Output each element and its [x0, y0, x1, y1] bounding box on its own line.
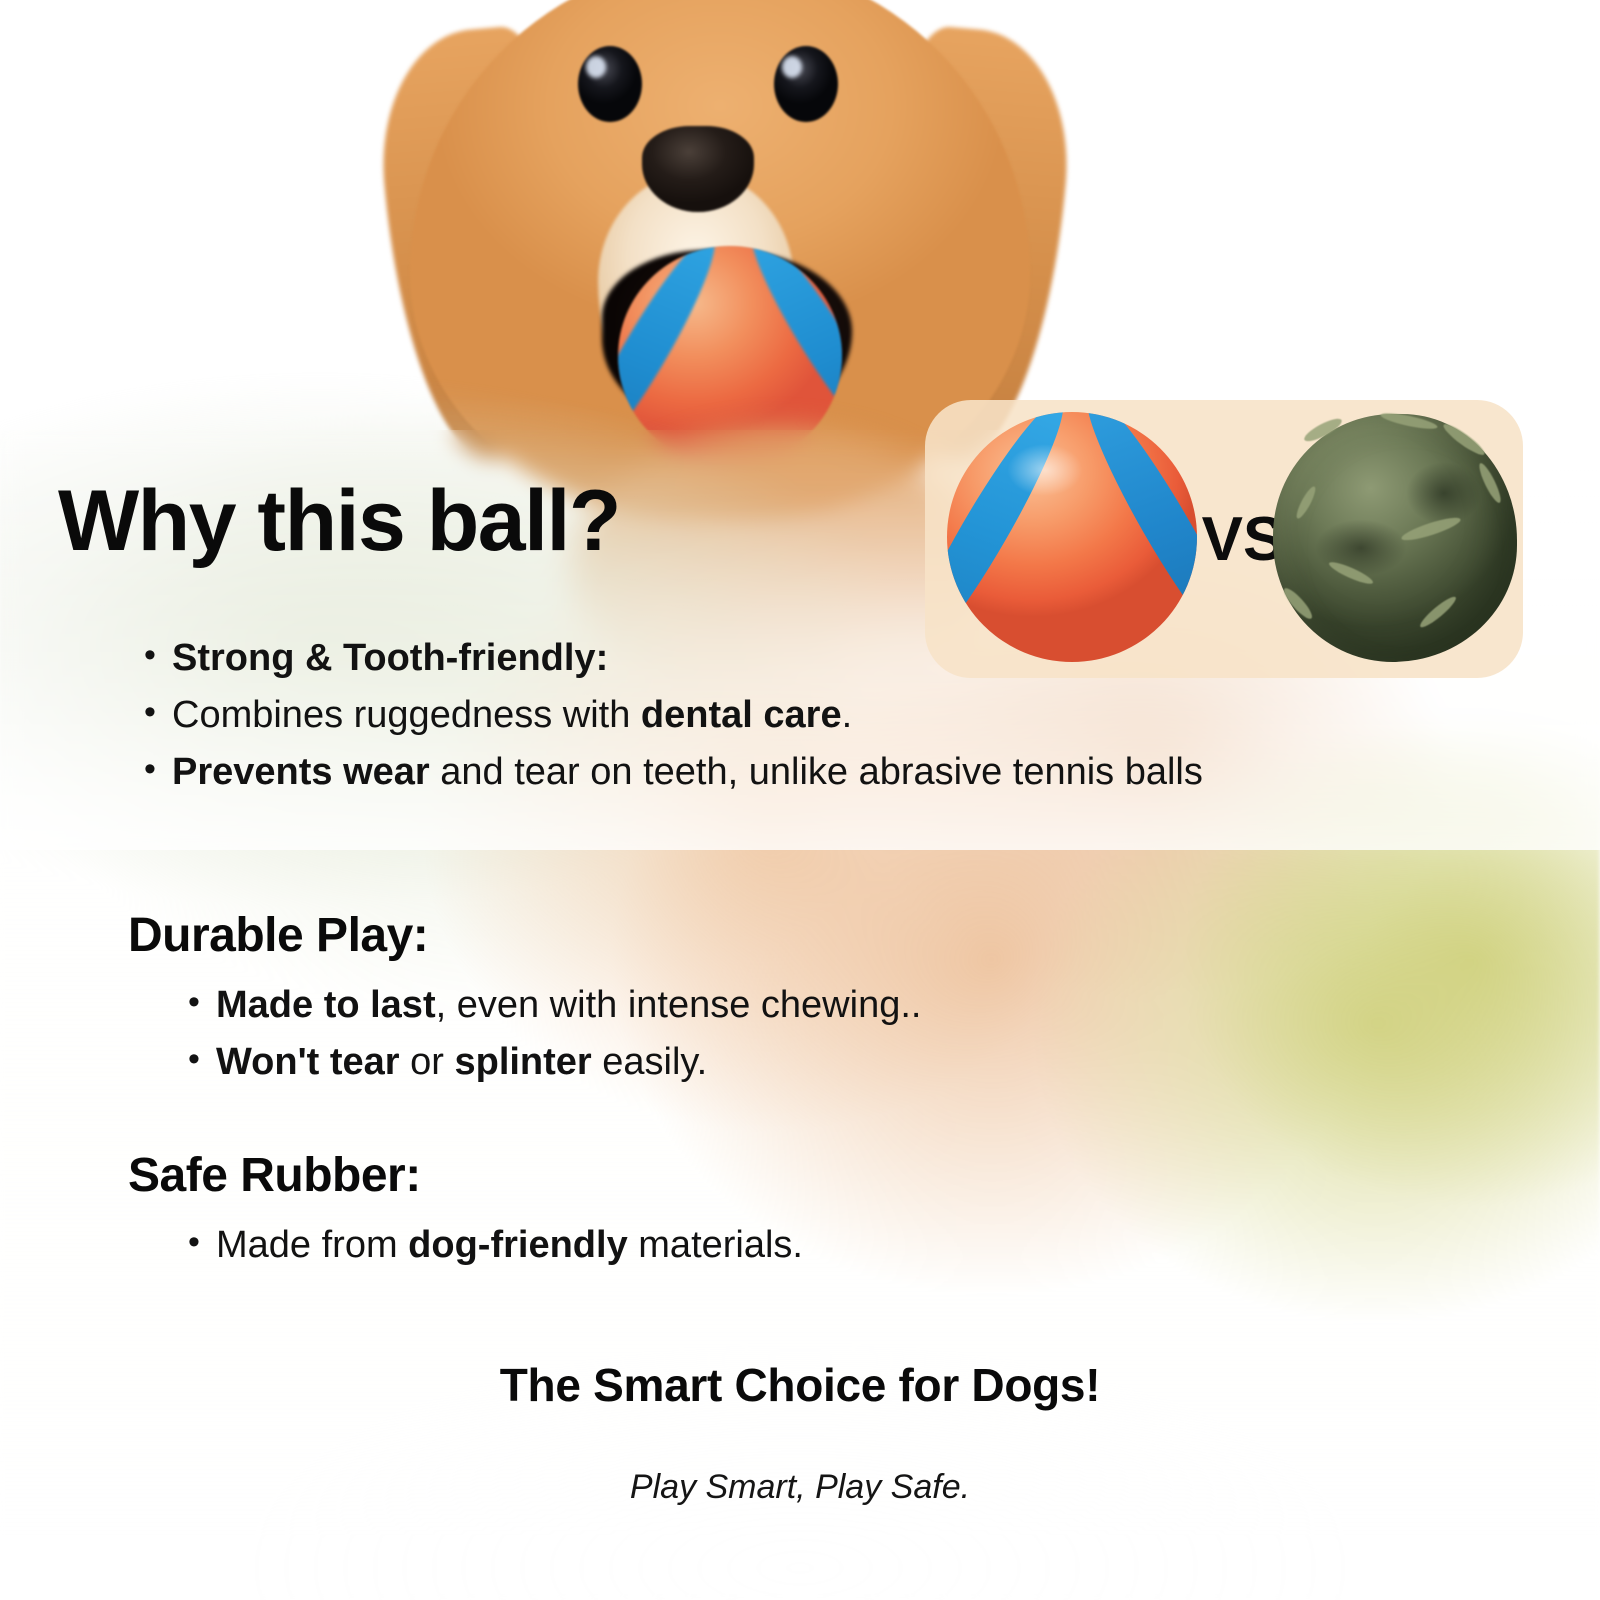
list-item-post: . — [842, 694, 853, 736]
section-title: Durable Play: — [128, 908, 1428, 963]
intro-bullet-list: • Strong & Tooth-friendly: • Combines ru… — [128, 630, 1408, 801]
list-item-text: Strong & Tooth-friendly: — [172, 630, 1408, 687]
bullet-icon: • — [128, 630, 172, 681]
page-title: Why this ball? — [58, 478, 620, 564]
list-item-text: Made from dog-friendly materials. — [216, 1217, 1428, 1274]
tagline: Play Smart, Play Safe. — [0, 1468, 1600, 1507]
list-item: • Combines ruggedness with dental care. — [128, 687, 1408, 744]
list-item-pre: Made from — [216, 1224, 408, 1266]
list-item-post: materials. — [628, 1224, 803, 1266]
list-item-bold: Prevents wear — [172, 751, 430, 793]
list-item-bold: Won't tear — [216, 1041, 400, 1083]
poster-content: Why this ball? • Strong & Tooth-friendly… — [0, 0, 1600, 1600]
list-item-text: Prevents wear and tear on teeth, unlike … — [172, 744, 1408, 801]
list-item-bold: Strong & Tooth-friendly: — [172, 637, 608, 679]
bullet-icon: • — [172, 1034, 216, 1085]
list-item: • Made from dog-friendly materials. — [172, 1217, 1428, 1274]
list-item-post: , even with intense chewing.. — [436, 984, 922, 1026]
section-bullet-list: • Made to last, even with intense chewin… — [128, 977, 1428, 1091]
list-item: • Prevents wear and tear on teeth, unlik… — [128, 744, 1408, 801]
list-item-text: Made to last, even with intense chewing.… — [216, 977, 1428, 1034]
list-item-post: and tear on teeth, unlike abrasive tenni… — [430, 751, 1203, 793]
section-safe-rubber: Safe Rubber: • Made from dog-friendly ma… — [128, 1148, 1428, 1274]
section-bullet-list: • Made from dog-friendly materials. — [128, 1217, 1428, 1274]
list-item: • Strong & Tooth-friendly: — [128, 630, 1408, 687]
bullet-icon: • — [172, 977, 216, 1028]
section-title: Safe Rubber: — [128, 1148, 1428, 1203]
section-durable-play: Durable Play: • Made to last, even with … — [128, 908, 1428, 1091]
list-item-bold-2: splinter — [454, 1041, 591, 1083]
list-item-bold: Made to last — [216, 984, 436, 1026]
list-item-bold: dog-friendly — [408, 1224, 628, 1266]
list-item: • Made to last, even with intense chewin… — [172, 977, 1428, 1034]
closing-statement: The Smart Choice for Dogs! — [0, 1358, 1600, 1412]
bullet-icon: • — [128, 744, 172, 795]
list-item: • Won't tear or splinter easily. — [172, 1034, 1428, 1091]
bullet-icon: • — [128, 687, 172, 738]
list-item-text: Won't tear or splinter easily. — [216, 1034, 1428, 1091]
list-item-bold: dental care — [641, 694, 842, 736]
list-item-mid: or — [400, 1041, 455, 1083]
bullet-icon: • — [172, 1217, 216, 1268]
list-item-pre: Combines ruggedness with — [172, 694, 641, 736]
list-item-post: easily. — [592, 1041, 707, 1083]
list-item-text: Combines ruggedness with dental care. — [172, 687, 1408, 744]
